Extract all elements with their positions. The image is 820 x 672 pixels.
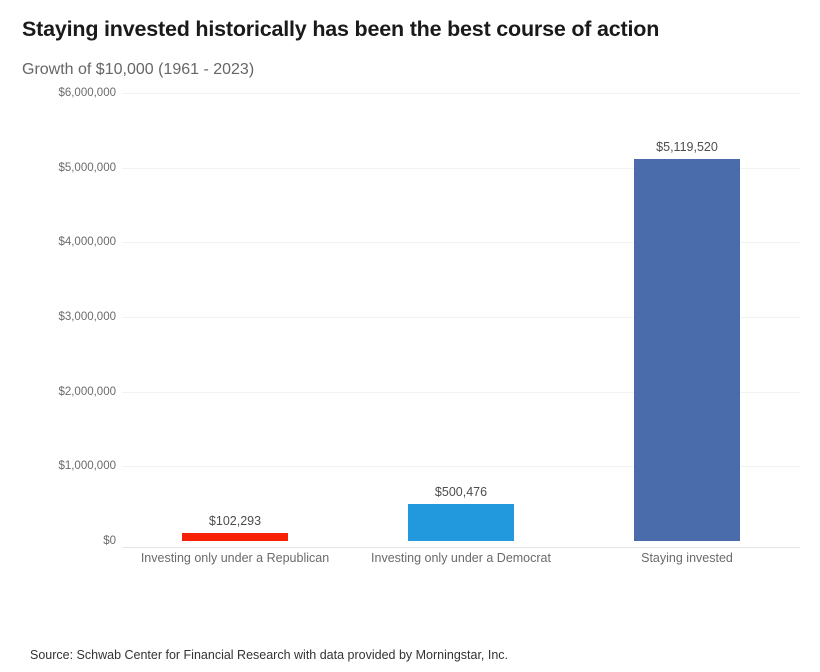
bar[interactable] — [634, 159, 740, 541]
y-tick-label: $6,000,000 — [0, 87, 116, 99]
bar[interactable] — [182, 533, 288, 541]
x-tick-label: Staying invested — [574, 551, 800, 565]
bar-group[interactable]: $500,476 — [408, 93, 514, 548]
y-axis: Portfolio value $0$1,000,000$2,000,000$3… — [0, 93, 116, 548]
bar-value-label: $102,293 — [142, 514, 328, 528]
y-tick-label: $0 — [0, 535, 116, 547]
bar-value-label: $500,476 — [368, 485, 554, 499]
bar[interactable] — [408, 504, 514, 541]
page-title: Staying invested historically has been t… — [22, 16, 802, 42]
y-tick-label: $5,000,000 — [0, 162, 116, 174]
bar-group[interactable]: $102,293 — [182, 93, 288, 548]
x-tick-label: Investing only under a Republican — [122, 551, 348, 565]
bar-value-label: $5,119,520 — [594, 140, 780, 154]
y-tick-label: $4,000,000 — [0, 236, 116, 248]
y-tick-label: $2,000,000 — [0, 386, 116, 398]
plot-area: $102,293$500,476$5,119,520 — [122, 93, 800, 548]
chart-subtitle: Growth of $10,000 (1961 - 2023) — [22, 60, 722, 80]
bar-group[interactable]: $5,119,520 — [634, 93, 740, 548]
y-tick-label: $3,000,000 — [0, 311, 116, 323]
x-tick-label: Investing only under a Democrat — [348, 551, 574, 565]
source-note: Source: Schwab Center for Financial Rese… — [30, 648, 508, 662]
x-axis: Investing only under a RepublicanInvesti… — [122, 551, 800, 573]
y-tick-label: $1,000,000 — [0, 460, 116, 472]
